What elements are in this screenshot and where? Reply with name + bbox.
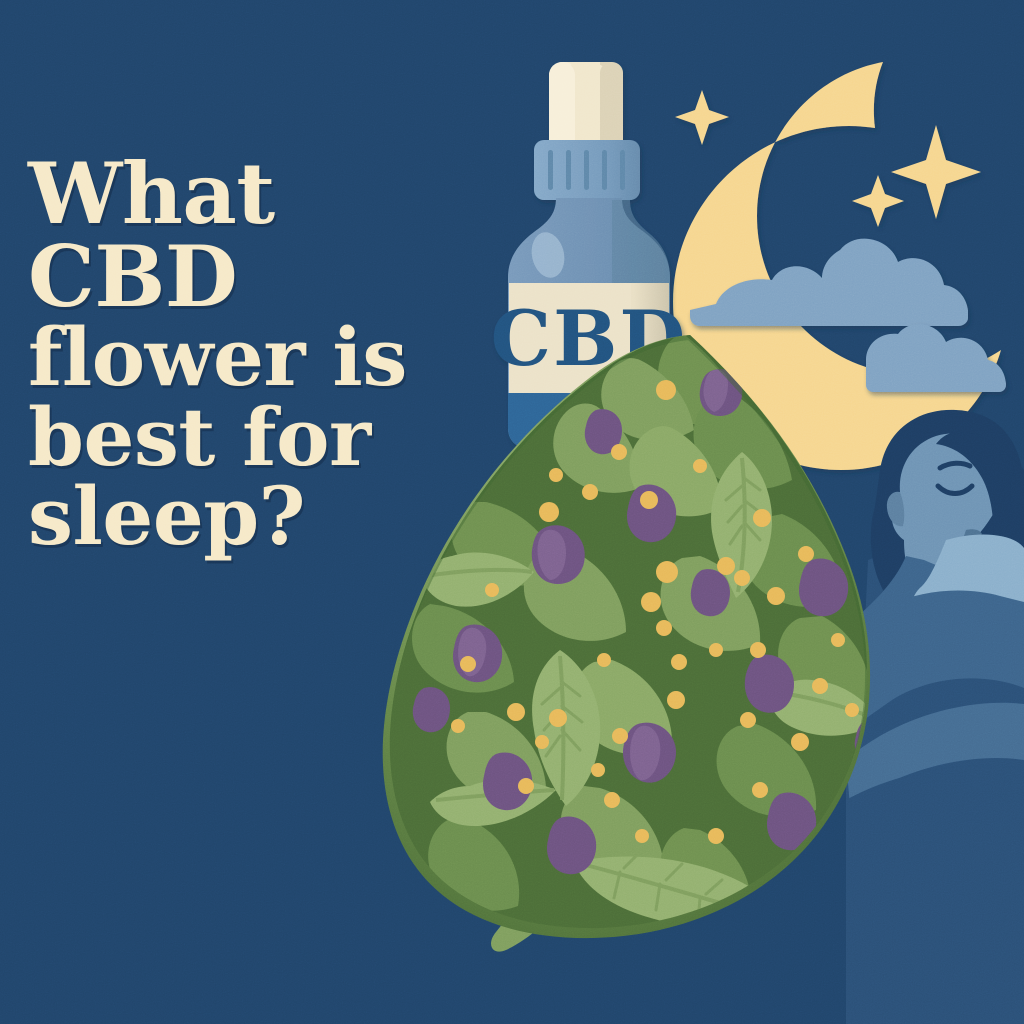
headline-line-3: flower is bbox=[28, 318, 458, 397]
headline-line-5: sleep? bbox=[28, 477, 458, 556]
page-headline: What CBD flower is best for sleep? bbox=[28, 152, 458, 556]
poster-canvas: CBD bbox=[0, 0, 1024, 1024]
headline-line-4: best for bbox=[28, 398, 458, 477]
headline-line-1: What bbox=[28, 152, 458, 235]
headline-line-2: CBD bbox=[28, 235, 458, 318]
